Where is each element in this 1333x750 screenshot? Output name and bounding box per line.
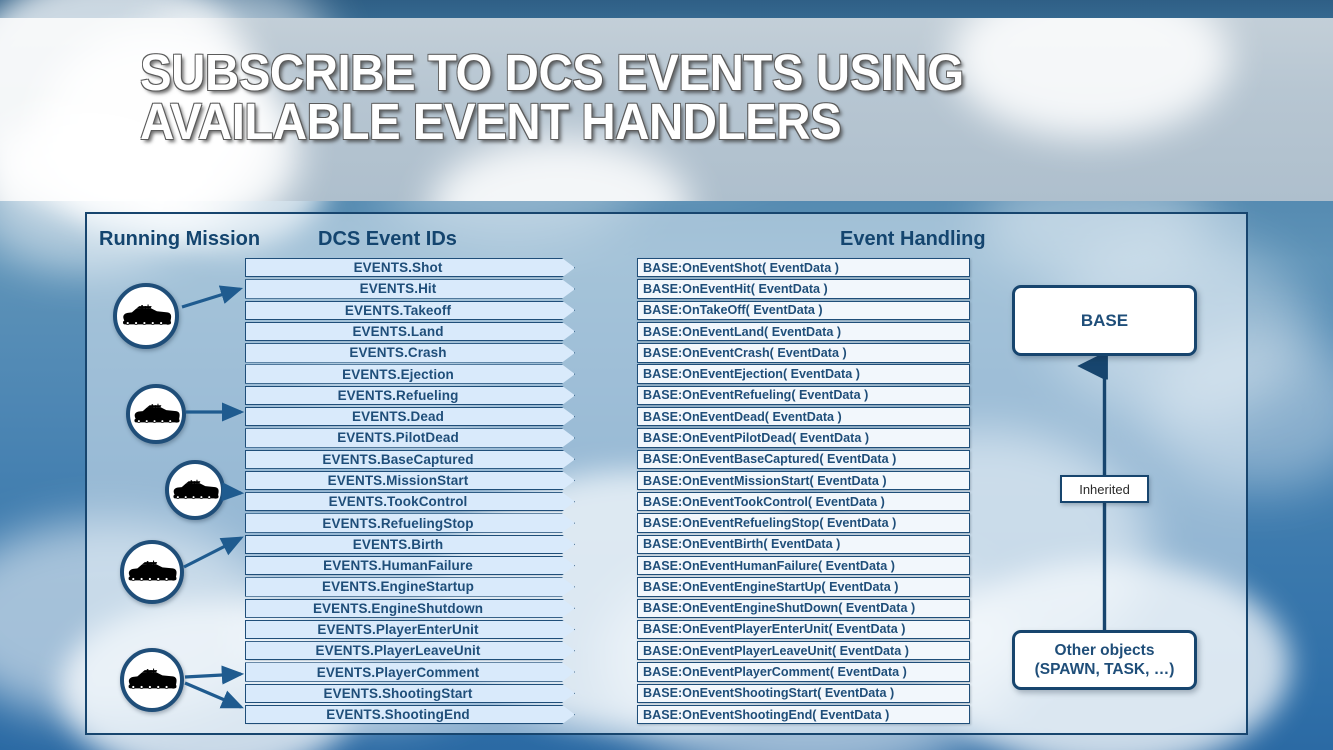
inherited-label-box: Inherited [1060, 475, 1149, 503]
event-id-label: EVENTS.PlayerComment [245, 662, 551, 681]
event-handler-row[interactable]: BASE:OnEventHit( EventData ) [637, 279, 970, 298]
slide-canvas: SUBSCRIBE TO DCS EVENTS USING AVAILABLE … [0, 0, 1333, 750]
event-id-label: EVENTS.Refueling [245, 386, 551, 405]
event-handler-label: BASE:OnEventTookControl( EventData ) [638, 495, 885, 509]
event-id-label: EVENTS.RefuelingStop [245, 513, 551, 532]
event-id-row[interactable]: EVENTS.HumanFailure [245, 556, 575, 575]
event-id-label: EVENTS.BaseCaptured [245, 450, 551, 469]
unit-5-circle[interactable] [120, 648, 184, 712]
armored-vehicle-icon [120, 304, 173, 328]
event-handler-row[interactable]: BASE:OnEventEngineShutDown( EventData ) [637, 599, 970, 618]
event-id-row[interactable]: EVENTS.BaseCaptured [245, 450, 575, 469]
event-id-row[interactable]: EVENTS.Shot [245, 258, 575, 277]
slide-title: SUBSCRIBE TO DCS EVENTS USING AVAILABLE … [140, 48, 1070, 146]
event-id-label: EVENTS.Land [245, 322, 551, 341]
event-id-label: EVENTS.Shot [245, 258, 551, 277]
event-handler-label: BASE:OnEventEjection( EventData ) [638, 367, 860, 381]
event-handler-label: BASE:OnEventBaseCaptured( EventData ) [638, 452, 896, 466]
event-id-row[interactable]: EVENTS.ShootingEnd [245, 705, 575, 724]
event-id-label: EVENTS.Hit [245, 279, 551, 298]
event-handler-row[interactable]: BASE:OnEventTookControl( EventData ) [637, 492, 970, 511]
event-handler-label: BASE:OnEventShootingEnd( EventData ) [638, 708, 889, 722]
event-id-label: EVENTS.Crash [245, 343, 551, 362]
event-handler-row[interactable]: BASE:OnEventHumanFailure( EventData ) [637, 556, 970, 575]
unit-1-circle[interactable] [113, 283, 179, 349]
event-handler-label: BASE:OnEventDead( EventData ) [638, 410, 842, 424]
event-handler-label: BASE:OnEventPlayerEnterUnit( EventData ) [638, 622, 905, 636]
event-handler-label: BASE:OnEventMissionStart( EventData ) [638, 474, 887, 488]
event-id-label: EVENTS.TookControl [245, 492, 551, 511]
event-id-label: EVENTS.PilotDead [245, 428, 551, 447]
event-handler-row[interactable]: BASE:OnEventPlayerComment( EventData ) [637, 662, 970, 681]
event-id-label: EVENTS.PlayerLeaveUnit [245, 641, 551, 660]
event-handler-row[interactable]: BASE:OnTakeOff( EventData ) [637, 301, 970, 320]
armored-vehicle-icon [126, 560, 178, 584]
event-handler-row[interactable]: BASE:OnEventPlayerEnterUnit( EventData ) [637, 620, 970, 639]
column-header-event-handling: Event Handling [840, 228, 986, 251]
event-handler-list: BASE:OnEventShot( EventData )BASE:OnEven… [637, 258, 972, 726]
event-id-label: EVENTS.PlayerEnterUnit [245, 620, 551, 639]
event-handler-label: BASE:OnEventHumanFailure( EventData ) [638, 559, 895, 573]
column-header-dcs-event-ids: DCS Event IDs [318, 228, 457, 251]
event-handler-row[interactable]: BASE:OnEventEngineStartUp( EventData ) [637, 577, 970, 596]
event-handler-label: BASE:OnEventPlayerComment( EventData ) [638, 665, 907, 679]
event-handler-row[interactable]: BASE:OnEventRefuelingStop( EventData ) [637, 513, 970, 532]
event-handler-label: BASE:OnEventRefueling( EventData ) [638, 388, 868, 402]
event-handler-label: BASE:OnTakeOff( EventData ) [638, 303, 823, 317]
event-handler-row[interactable]: BASE:OnEventPilotDead( EventData ) [637, 428, 970, 447]
event-id-row[interactable]: EVENTS.Hit [245, 279, 575, 298]
other-objects-box[interactable]: Other objects (SPAWN, TASK, …) [1012, 630, 1197, 690]
unit-4-circle[interactable] [120, 540, 184, 604]
event-handler-row[interactable]: BASE:OnEventShot( EventData ) [637, 258, 970, 277]
event-handler-row[interactable]: BASE:OnEventDead( EventData ) [637, 407, 970, 426]
base-class-box[interactable]: BASE [1012, 285, 1197, 356]
event-id-label: EVENTS.EngineStartup [245, 577, 551, 596]
event-handler-label: BASE:OnEventCrash( EventData ) [638, 346, 847, 360]
inherited-label: Inherited [1079, 482, 1130, 497]
event-handler-label: BASE:OnEventLand( EventData ) [638, 325, 841, 339]
event-handler-row[interactable]: BASE:OnEventShootingStart( EventData ) [637, 684, 970, 703]
armored-vehicle-icon [132, 403, 181, 426]
event-handler-label: BASE:OnEventPlayerLeaveUnit( EventData ) [638, 644, 909, 658]
event-handler-label: BASE:OnEventHit( EventData ) [638, 282, 828, 296]
unit-2-circle[interactable] [126, 384, 186, 444]
event-id-row[interactable]: EVENTS.Crash [245, 343, 575, 362]
event-handler-row[interactable]: BASE:OnEventCrash( EventData ) [637, 343, 970, 362]
event-id-row[interactable]: EVENTS.ShootingStart [245, 684, 575, 703]
event-id-label: EVENTS.EngineShutdown [245, 599, 551, 618]
armored-vehicle-icon [126, 668, 178, 692]
event-id-row[interactable]: EVENTS.Refueling [245, 386, 575, 405]
event-id-label: EVENTS.ShootingStart [245, 684, 551, 703]
event-id-label: EVENTS.ShootingEnd [245, 705, 551, 724]
event-id-row[interactable]: EVENTS.PilotDead [245, 428, 575, 447]
event-handler-label: BASE:OnEventEngineStartUp( EventData ) [638, 580, 898, 594]
event-id-row[interactable]: EVENTS.PlayerEnterUnit [245, 620, 575, 639]
event-id-row[interactable]: EVENTS.Takeoff [245, 301, 575, 320]
base-class-label: BASE [1081, 311, 1128, 331]
event-id-row[interactable]: EVENTS.Land [245, 322, 575, 341]
event-id-list: EVENTS.ShotEVENTS.HitEVENTS.TakeoffEVENT… [245, 258, 580, 726]
other-objects-line2: (SPAWN, TASK, …) [1035, 660, 1175, 679]
event-handler-row[interactable]: BASE:OnEventBirth( EventData ) [637, 535, 970, 554]
event-handler-row[interactable]: BASE:OnEventEjection( EventData ) [637, 364, 970, 383]
event-handler-row[interactable]: BASE:OnEventPlayerLeaveUnit( EventData ) [637, 641, 970, 660]
event-handler-label: BASE:OnEventRefuelingStop( EventData ) [638, 516, 896, 530]
event-handler-row[interactable]: BASE:OnEventMissionStart( EventData ) [637, 471, 970, 490]
event-id-row[interactable]: EVENTS.RefuelingStop [245, 513, 575, 532]
event-handler-row[interactable]: BASE:OnEventRefueling( EventData ) [637, 386, 970, 405]
event-id-label: EVENTS.Ejection [245, 364, 551, 383]
event-id-row[interactable]: EVENTS.Ejection [245, 364, 575, 383]
event-handler-row[interactable]: BASE:OnEventBaseCaptured( EventData ) [637, 450, 970, 469]
event-id-row[interactable]: EVENTS.EngineShutdown [245, 599, 575, 618]
event-handler-label: BASE:OnEventEngineShutDown( EventData ) [638, 601, 915, 615]
armored-vehicle-icon [171, 479, 220, 502]
event-handler-label: BASE:OnEventBirth( EventData ) [638, 537, 840, 551]
event-id-label: EVENTS.Dead [245, 407, 551, 426]
event-handler-label: BASE:OnEventShootingStart( EventData ) [638, 686, 894, 700]
event-handler-label: BASE:OnEventShot( EventData ) [638, 261, 839, 275]
event-id-row[interactable]: EVENTS.Dead [245, 407, 575, 426]
event-id-row[interactable]: EVENTS.TookControl [245, 492, 575, 511]
event-id-row[interactable]: EVENTS.Birth [245, 535, 575, 554]
event-id-label: EVENTS.HumanFailure [245, 556, 551, 575]
event-id-row[interactable]: EVENTS.EngineStartup [245, 577, 575, 596]
event-id-label: EVENTS.Birth [245, 535, 551, 554]
event-id-row[interactable]: EVENTS.MissionStart [245, 471, 575, 490]
unit-3-circle[interactable] [165, 460, 225, 520]
event-id-row[interactable]: EVENTS.PlayerLeaveUnit [245, 641, 575, 660]
event-id-label: EVENTS.MissionStart [245, 471, 551, 490]
event-handler-label: BASE:OnEventPilotDead( EventData ) [638, 431, 869, 445]
column-header-running-mission: Running Mission [99, 228, 260, 251]
event-id-label: EVENTS.Takeoff [245, 301, 551, 320]
event-handler-row[interactable]: BASE:OnEventLand( EventData ) [637, 322, 970, 341]
other-objects-line1: Other objects [1055, 641, 1155, 660]
event-id-row[interactable]: EVENTS.PlayerComment [245, 662, 575, 681]
event-handler-row[interactable]: BASE:OnEventShootingEnd( EventData ) [637, 705, 970, 724]
